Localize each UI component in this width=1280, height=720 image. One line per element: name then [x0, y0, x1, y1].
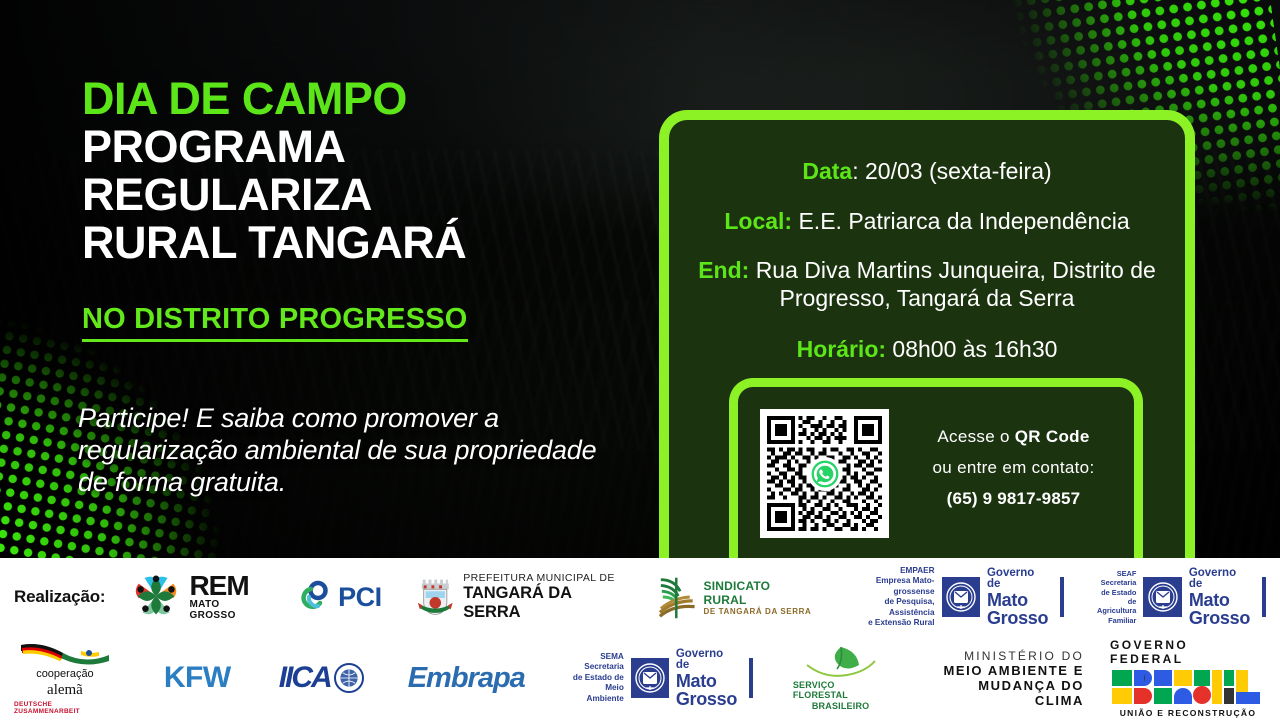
mt-crest-icon	[631, 658, 669, 698]
info-row-address: End: Rua Diva Martins Junqueira, Distrit…	[687, 257, 1167, 312]
prefeitura-line-1: PREFEITURA MUNICIPAL DE	[463, 572, 627, 584]
headline-line-2: REGULARIZA	[82, 171, 602, 219]
event-info-panel: Data: 20/03 (sexta-feira) Local: E.E. Pa…	[659, 110, 1195, 558]
headline-main: PROGRAMA REGULARIZA RURAL TANGARÁ	[82, 123, 602, 267]
seaf-gov-line-b1: Mato	[1189, 591, 1250, 609]
empaer-gov-line-a: Governo de	[987, 568, 1048, 591]
sponsor-row-2: cooperação alemã DEUTSCHE ZUSAMMENARBEIT…	[0, 636, 1280, 720]
info-date-separator: :	[852, 158, 858, 184]
sfb-line-1: SERVIÇO FLORESTAL	[793, 680, 889, 700]
sindicato-wordmark: SINDICATO RURAL DE TANGARÁ DA SERRA	[704, 579, 813, 616]
logo-sindicato-rural: SINDICATO RURAL DE TANGARÁ DA SERRA	[657, 573, 813, 621]
sema-descriptor: SEMA Secretaria de Estado de Meio Ambien…	[569, 652, 624, 705]
info-value-time: 08h00 às 16h30	[892, 336, 1057, 362]
pci-infinity-icon	[300, 579, 334, 615]
info-row-local: Local: E.E. Patriarca da Independência	[687, 208, 1167, 236]
logo-prefeitura-tangara: PREFEITURA MUNICIPAL DE TANGARÁ DA SERRA	[416, 572, 627, 622]
mma-line-2: MEIO AMBIENTE E	[930, 663, 1084, 678]
empaer-gov-line-b1: Mato	[987, 591, 1048, 609]
info-label-date: Data	[802, 158, 852, 184]
info-label-local: Local:	[724, 208, 792, 234]
sema-gov-line-b2: Grosso	[676, 690, 737, 708]
sindicato-wheat-icon	[657, 573, 698, 621]
empaer-descriptor: EMPAER Empresa Mato-grossense de Pesquis…	[839, 566, 935, 629]
coop-line-1: cooperação	[36, 669, 94, 681]
logo-embrapa: Embrapa	[408, 662, 525, 695]
german-brazilian-flag-icon	[19, 641, 111, 667]
logo-empaer-governo-mt: EMPAER Empresa Mato-grossense de Pesquis…	[839, 566, 1065, 629]
logo-ministerio-meio-ambiente: MINISTÉRIO DO MEIO AMBIENTE E MUDANÇA DO…	[930, 649, 1084, 708]
whatsapp-icon	[808, 457, 842, 491]
mt-crest-icon	[1143, 577, 1181, 617]
sfb-leaf-icon	[805, 645, 877, 679]
headline-line-1: PROGRAMA	[82, 123, 602, 171]
brasil-wordmark-icon	[1110, 668, 1266, 706]
sema-gov-line-b1: Mato	[676, 672, 737, 690]
info-value-local: E.E. Patriarca da Independência	[798, 208, 1129, 234]
mt-crest-icon	[942, 577, 980, 617]
poster-root: DIA DE CAMPO PROGRAMA REGULARIZA RURAL T…	[0, 0, 1280, 720]
seaf-gov-line-b2: Grosso	[1189, 609, 1250, 627]
headline-kicker: DIA DE CAMPO	[82, 76, 602, 121]
qr-line-contact: ou entre em contato:	[911, 458, 1116, 478]
qr-line-access: Acesse o QR Code	[911, 427, 1116, 447]
sfb-line-2: BRASILEIRO	[812, 701, 870, 711]
gfed-bottom-label: UNIÃO E RECONSTRUÇÃO	[1120, 708, 1257, 718]
iica-title: IICA	[279, 661, 331, 695]
logo-servico-florestal-brasileiro: SERVIÇO FLORESTAL BRASILEIRO	[793, 645, 889, 711]
embrapa-title: Embrapa	[408, 662, 525, 695]
sema-gov-bar	[749, 658, 753, 698]
rem-petal-icon	[131, 574, 181, 620]
pci-title: PCI	[338, 582, 382, 613]
iica-globe-icon	[334, 663, 364, 693]
logo-pci: PCI	[300, 579, 382, 615]
sindicato-line-2: DE TANGARÁ DA SERRA	[704, 607, 813, 616]
logo-seaf-governo-mt: SEAF Secretaria de Estado de Agricultura…	[1092, 568, 1266, 627]
logo-rem-mato-grosso: REM MATO GROSSO	[131, 573, 266, 622]
prefeitura-crest-icon	[416, 573, 455, 621]
sema-gov-line-a: Governo de	[676, 649, 737, 672]
headline-subtitle: NO DISTRITO PROGRESSO	[82, 303, 468, 342]
rem-subtitle: MATO GROSSO	[189, 599, 266, 621]
info-label-time: Horário:	[797, 336, 886, 362]
qr-contact-card: Acesse o QR Code ou entre em contato: (6…	[729, 378, 1143, 568]
prefeitura-line-2: TANGARÁ DA SERRA	[463, 584, 627, 622]
qr-access-strong: QR Code	[1015, 427, 1090, 446]
headline-block: DIA DE CAMPO PROGRAMA REGULARIZA RURAL T…	[82, 76, 602, 342]
seaf-gov-line-a: Governo de	[1189, 568, 1250, 591]
mma-line-1: MINISTÉRIO DO	[930, 649, 1084, 663]
empaer-gov-wordmark: Governo de Mato Grosso	[987, 568, 1048, 627]
logo-iica: IICA	[279, 661, 364, 695]
seaf-gov-bar	[1262, 577, 1266, 617]
info-row-date: Data: 20/03 (sexta-feira)	[687, 158, 1167, 186]
info-label-address: End:	[698, 257, 749, 283]
info-value-address: Rua Diva Martins Junqueira, Distrito de …	[756, 257, 1156, 311]
sponsor-footer: Realização:	[0, 558, 1280, 720]
rem-wordmark: REM MATO GROSSO	[189, 573, 266, 622]
info-value-date: 20/03 (sexta-feira)	[865, 158, 1052, 184]
rem-title: REM	[189, 573, 266, 600]
coop-line-3: DEUTSCHE ZUSAMMENARBEIT	[14, 701, 116, 715]
seaf-descriptor: SEAF Secretaria de Estado de Agricultura…	[1092, 569, 1136, 626]
realizacao-label: Realização:	[14, 587, 105, 607]
prefeitura-wordmark: PREFEITURA MUNICIPAL DE TANGARÁ DA SERRA	[463, 572, 627, 622]
logo-sema-governo-mt: SEMA Secretaria de Estado de Meio Ambien…	[569, 649, 753, 708]
coop-line-2: alemã	[47, 683, 83, 699]
qr-contact-text: Acesse o QR Code ou entre em contato: (6…	[911, 409, 1116, 509]
sindicato-line-1: SINDICATO RURAL	[704, 579, 813, 607]
sponsor-row-1: Realização:	[0, 558, 1280, 636]
headline-line-3: RURAL TANGARÁ	[82, 219, 602, 267]
lede-paragraph: Participe! E saiba como promover a regul…	[78, 403, 598, 499]
qr-access-prefix: Acesse o	[937, 427, 1014, 446]
qr-phone-number[interactable]: (65) 9 9817-9857	[911, 489, 1116, 509]
seaf-gov-wordmark: Governo de Mato Grosso	[1189, 568, 1250, 627]
logo-governo-federal-brasil: GOVERNO FEDERAL	[1110, 638, 1266, 718]
gfed-top-label: GOVERNO FEDERAL	[1110, 638, 1266, 666]
info-row-time: Horário: 08h00 às 16h30	[687, 336, 1167, 364]
sema-gov-wordmark: Governo de Mato Grosso	[676, 649, 737, 708]
mma-line-3: MUDANÇA DO CLIMA	[930, 678, 1084, 708]
logo-kfw: KFW	[164, 661, 231, 695]
qr-code[interactable]	[760, 409, 889, 538]
empaer-gov-line-b2: Grosso	[987, 609, 1048, 627]
logo-cooperacao-alema: cooperação alemã DEUTSCHE ZUSAMMENARBEIT	[14, 641, 116, 714]
empaer-gov-bar	[1060, 577, 1064, 617]
